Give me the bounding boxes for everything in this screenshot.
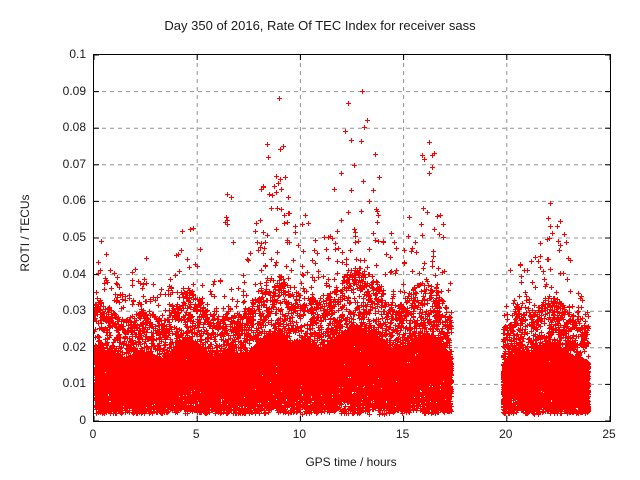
y-tick-label: 0.09 [63, 84, 86, 98]
x-axis-tick-labels: 0510152025 [93, 427, 609, 447]
y-tick-label: 0.04 [63, 267, 86, 281]
chart-canvas: Day 350 of 2016, Rate Of TEC Index for r… [0, 0, 640, 480]
plot-area [93, 54, 611, 422]
y-axis-title: ROTI / TECUs [18, 163, 32, 303]
y-tick-label: 0.07 [63, 157, 86, 171]
x-tick-label: 25 [602, 427, 615, 441]
x-tick-label: 5 [193, 427, 200, 441]
y-tick-label: 0.03 [63, 303, 86, 317]
x-axis-title: GPS time / hours [93, 455, 609, 469]
y-tick-label: 0.05 [63, 230, 86, 244]
y-tick-label: 0.02 [63, 340, 86, 354]
x-tick-label: 0 [90, 427, 97, 441]
y-axis-tick-labels: 00.010.020.030.040.050.060.070.080.090.1 [28, 54, 86, 420]
x-tick-label: 15 [396, 427, 409, 441]
y-tick-label: 0 [79, 413, 86, 427]
y-tick-label: 0.01 [63, 376, 86, 390]
x-tick-label: 20 [499, 427, 512, 441]
y-tick-label: 0.1 [69, 47, 86, 61]
scatter-series [94, 55, 610, 421]
x-tick-label: 10 [293, 427, 306, 441]
y-tick-label: 0.08 [63, 120, 86, 134]
y-tick-label: 0.06 [63, 193, 86, 207]
chart-title: Day 350 of 2016, Rate Of TEC Index for r… [0, 18, 640, 33]
